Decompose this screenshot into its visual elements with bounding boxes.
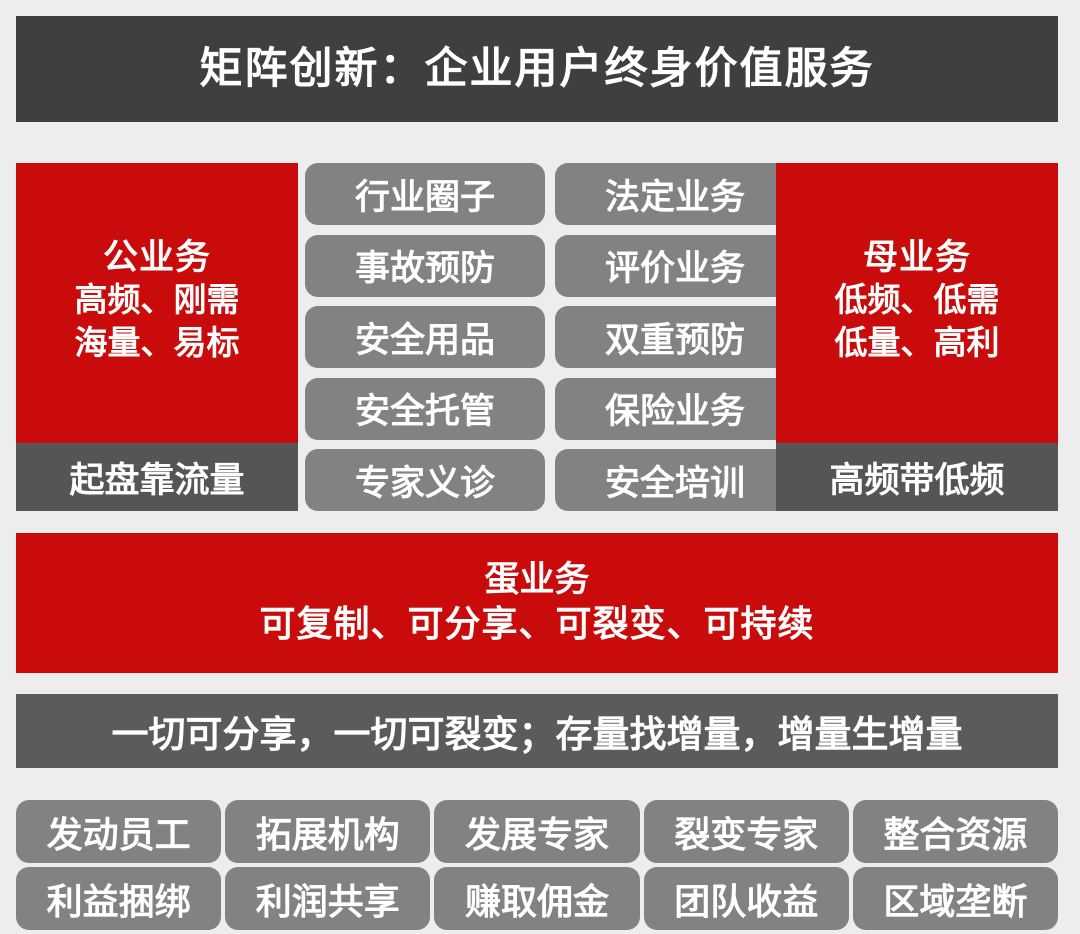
panel-parent-business-line1: 低频、低需 — [835, 279, 1000, 322]
action-integrate-resources[interactable]: 整合资源 — [853, 800, 1058, 863]
slogan-text: 一切可分享，一切可裂变；存量找增量，增量生增量 — [112, 704, 963, 758]
bottom-action-row-2: 利益捆绑 利润共享 赚取佣金 团队收益 区域垄断 — [16, 867, 1058, 930]
action-interest-binding[interactable]: 利益捆绑 — [16, 867, 221, 930]
matrix-item-safety-supplies[interactable]: 安全用品 — [305, 306, 545, 368]
slogan-bar: 一切可分享，一切可裂变；存量找增量，增量生增量 — [16, 694, 1058, 768]
panel-public-business-body: 公业务 高频、刚需 海量、易标 — [16, 163, 298, 443]
panel-public-business-footer: 起盘靠流量 — [16, 443, 298, 511]
panel-public-business: 公业务 高频、刚需 海量、易标 起盘靠流量 — [16, 163, 298, 511]
bottom-action-row-1: 发动员工 拓展机构 发展专家 裂变专家 整合资源 — [16, 800, 1058, 863]
action-fission-experts[interactable]: 裂变专家 — [644, 800, 849, 863]
action-team-income[interactable]: 团队收益 — [644, 867, 849, 930]
action-profit-sharing[interactable]: 利润共享 — [225, 867, 430, 930]
panel-public-business-heading: 公业务 — [103, 237, 211, 280]
matrix-grid: 公业务 高频、刚需 海量、易标 起盘靠流量 行业圈子 事故预防 安全用品 安全托… — [16, 163, 1058, 511]
matrix-item-safety-training[interactable]: 安全培训 — [555, 449, 795, 511]
matrix-item-statutory-business[interactable]: 法定业务 — [555, 163, 795, 225]
panel-egg-business-heading: 蛋业务 — [484, 558, 589, 602]
action-earn-commission[interactable]: 赚取佣金 — [434, 867, 639, 930]
matrix-item-insurance-business[interactable]: 保险业务 — [555, 378, 795, 440]
panel-parent-business: 母业务 低频、低需 低量、高利 高频带低频 — [776, 163, 1058, 511]
matrix-item-accident-prevention[interactable]: 事故预防 — [305, 235, 545, 297]
panel-parent-business-body: 母业务 低频、低需 低量、高利 — [776, 163, 1058, 443]
matrix-column-b: 法定业务 评价业务 双重预防 保险业务 安全培训 — [555, 163, 795, 511]
panel-parent-business-line2: 低量、高利 — [835, 322, 1000, 365]
panel-egg-business-subtitle: 可复制、可分享、可裂变、可持续 — [259, 601, 814, 648]
action-mobilize-employees[interactable]: 发动员工 — [16, 800, 221, 863]
action-develop-experts[interactable]: 发展专家 — [434, 800, 639, 863]
matrix-column-a: 行业圈子 事故预防 安全用品 安全托管 专家义诊 — [305, 163, 545, 511]
matrix-item-safety-custody[interactable]: 安全托管 — [305, 378, 545, 440]
action-regional-monopoly[interactable]: 区域垄断 — [853, 867, 1058, 930]
panel-public-business-line1: 高频、刚需 — [75, 279, 240, 322]
page-title: 矩阵创新：企业用户终身价值服务 — [200, 48, 875, 91]
matrix-item-evaluation-business[interactable]: 评价业务 — [555, 235, 795, 297]
panel-parent-business-footer: 高频带低频 — [776, 443, 1058, 511]
slide-canvas: 矩阵创新：企业用户终身价值服务 公业务 高频、刚需 海量、易标 起盘靠流量 行业… — [0, 0, 1080, 934]
panel-parent-business-heading: 母业务 — [863, 237, 971, 280]
panel-egg-business: 蛋业务 可复制、可分享、可裂变、可持续 — [16, 533, 1058, 673]
matrix-item-expert-clinic[interactable]: 专家义诊 — [305, 449, 545, 511]
matrix-item-dual-prevention[interactable]: 双重预防 — [555, 306, 795, 368]
matrix-item-industry-circle[interactable]: 行业圈子 — [305, 163, 545, 225]
panel-public-business-line2: 海量、易标 — [75, 322, 240, 365]
action-expand-institutions[interactable]: 拓展机构 — [225, 800, 430, 863]
bottom-action-grid: 发动员工 拓展机构 发展专家 裂变专家 整合资源 利益捆绑 利润共享 赚取佣金 … — [16, 800, 1058, 930]
page-title-bar: 矩阵创新：企业用户终身价值服务 — [16, 16, 1058, 122]
